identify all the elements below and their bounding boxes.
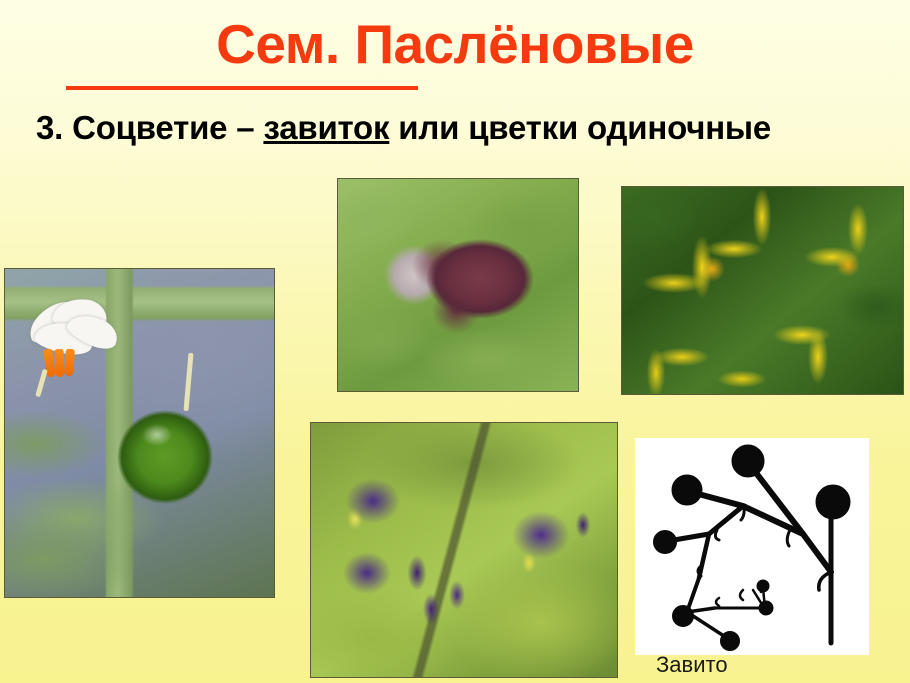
photo-content <box>311 423 617 677</box>
cyme-diagram <box>635 438 869 655</box>
subtitle-emphasis: завиток <box>263 109 389 146</box>
photo-content <box>622 187 903 394</box>
bittersweet-nightshade-photo <box>310 422 618 678</box>
subtitle-suffix: или цветки одиночные <box>389 109 771 146</box>
white-flower-green-berry-photo <box>4 268 275 598</box>
title-underline <box>66 86 418 90</box>
page-title: Сем. Паслёновые <box>0 16 910 74</box>
tomato-flowers-photo <box>621 186 904 395</box>
flower-anther <box>64 349 75 377</box>
subtitle-text: 3. Соцветие – завиток или цветки одиночн… <box>36 106 826 150</box>
subtitle-prefix: 3. Соцветие – <box>36 109 263 146</box>
belladonna-flower-photo <box>337 178 579 392</box>
diagram-caption: Завито <box>656 652 728 678</box>
photo-content <box>338 179 578 391</box>
flower-anther <box>55 349 65 377</box>
cyme-diagram-svg <box>635 438 869 655</box>
